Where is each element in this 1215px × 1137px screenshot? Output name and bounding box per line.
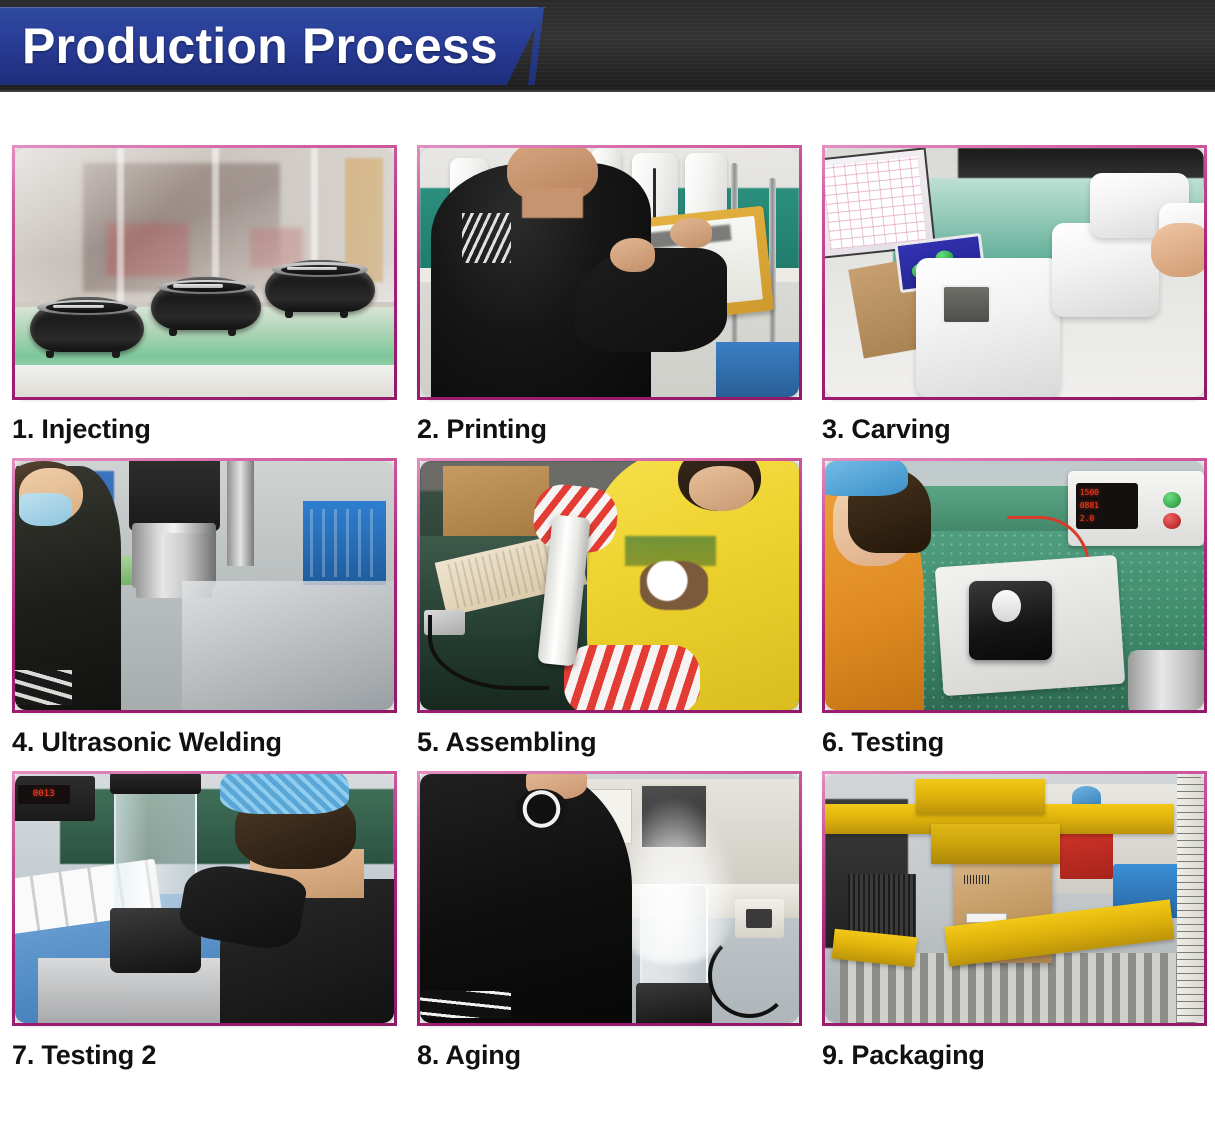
- step-caption: 8. Aging: [417, 1040, 802, 1071]
- tester-start-button[interactable]: [1163, 492, 1181, 508]
- step-caption: 3. Carving: [822, 414, 1207, 445]
- timer-reading: 0013: [33, 789, 55, 799]
- step-caption: 2. Printing: [417, 414, 802, 445]
- photo-testing: 1500 0881 2.0: [825, 461, 1204, 710]
- process-step-card: 1500 0881 2.0: [822, 458, 1207, 758]
- step-photo-frame: 1500 0881 2.0: [822, 458, 1207, 713]
- step-caption: 6. Testing: [822, 727, 1207, 758]
- process-step-grid: 1. Injecting: [0, 92, 1215, 1071]
- step-photo-frame: [417, 145, 802, 400]
- process-step-card: 1. Injecting: [12, 145, 397, 445]
- step-photo-frame: [822, 771, 1207, 1026]
- process-step-card: 8. Aging: [417, 771, 802, 1071]
- step-caption: 4. Ultrasonic Welding: [12, 727, 397, 758]
- photo-injecting: [15, 148, 394, 397]
- process-step-card: 4. Ultrasonic Welding: [12, 458, 397, 758]
- step-caption: 9. Packaging: [822, 1040, 1207, 1071]
- tester-reading-time: 2.0: [1080, 515, 1135, 523]
- step-photo-frame: [12, 145, 397, 400]
- photo-ultrasonic-welding: [15, 461, 394, 710]
- photo-testing-2: 0013: [15, 774, 394, 1023]
- step-photo-frame: [417, 458, 802, 713]
- step-photo-frame: [12, 458, 397, 713]
- tester-led-display: 1500 0881 2.0: [1076, 483, 1139, 529]
- process-step-card: 0013 7. Testing 2: [12, 771, 397, 1071]
- step-photo-frame: 0013: [12, 771, 397, 1026]
- step-caption: 5. Assembling: [417, 727, 802, 758]
- page-title: Production Process: [22, 17, 498, 75]
- step-caption: 1. Injecting: [12, 414, 397, 445]
- process-step-card: 2. Printing: [417, 145, 802, 445]
- photo-carving: [825, 148, 1204, 397]
- production-process-page: Production Process: [0, 0, 1215, 1137]
- timer-led-display: 0013: [18, 785, 70, 805]
- step-photo-frame: [417, 771, 802, 1026]
- step-caption: 7. Testing 2: [12, 1040, 397, 1071]
- tester-reading-voltage: 1500: [1080, 489, 1135, 497]
- hipot-tester: 1500 0881 2.0: [1068, 471, 1204, 546]
- process-step-card: 5. Assembling: [417, 458, 802, 758]
- photo-printing: [420, 148, 799, 397]
- tester-reading-current: 0881: [1080, 502, 1135, 510]
- process-step-card: 9. Packaging: [822, 771, 1207, 1071]
- photo-assembling: [420, 461, 799, 710]
- page-header: Production Process: [0, 0, 1215, 92]
- process-step-card: 3. Carving: [822, 145, 1207, 445]
- photo-packaging: [825, 774, 1204, 1023]
- cycle-timer: 0013: [15, 776, 95, 821]
- tester-stop-button[interactable]: [1163, 513, 1181, 529]
- photo-aging: [420, 774, 799, 1023]
- step-photo-frame: [822, 145, 1207, 400]
